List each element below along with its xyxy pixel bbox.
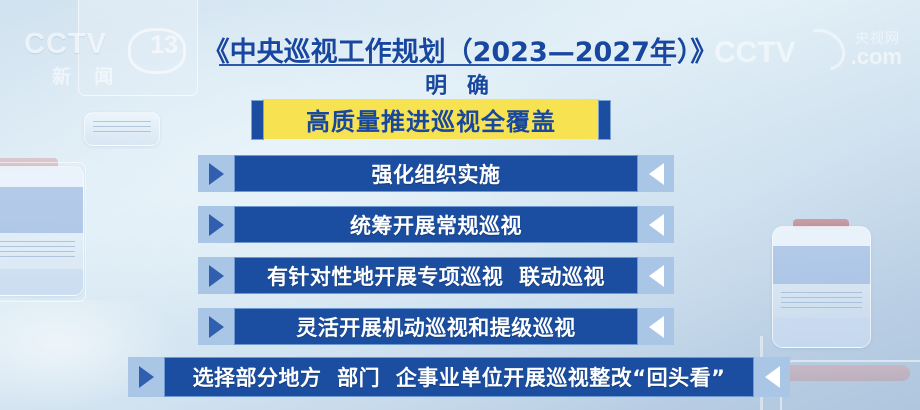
deco-lines [85,113,159,140]
item-bar: 统筹开展常规巡视 [234,206,638,243]
deco-document-top-center [84,112,160,146]
list-item: 有针对性地开展专项巡视 联动巡视 [198,257,674,294]
item-bar: 选择部分地方 部门 企事业单位开展巡视整改“回头看” [164,357,754,397]
deco-lines [773,284,870,318]
list-item: 灵活开展机动巡视和提级巡视 [198,308,674,345]
arrow-pad-right [754,357,790,397]
deco-document-right [772,226,871,348]
chevron-right-icon [209,214,224,236]
item-label: 灵活开展机动巡视和提级巡视 [296,312,576,342]
arrow-pad-right [638,308,674,345]
title-underline [219,64,671,66]
chevron-left-icon [649,214,664,236]
item-bar: 灵活开展机动巡视和提级巡视 [234,308,638,345]
arrow-pad-left [198,257,234,294]
deco-document-left [0,166,84,296]
item-bar: 有针对性地开展专项巡视 联动巡视 [234,257,638,294]
deco-rounded-frame-bottom-right [780,360,920,410]
banner-cap-right [598,100,611,140]
list-item: 统筹开展常规巡视 [198,206,674,243]
deco-red-tab-bottom-right [782,365,910,381]
chevron-left-icon [649,316,664,338]
chevron-left-icon [649,265,664,287]
list-item: 选择部分地方 部门 企事业单位开展巡视整改“回头看” [128,357,790,397]
chevron-right-icon [209,316,224,338]
page-subtitle: 明 确 [0,68,920,100]
deco-lines [0,233,83,269]
item-label: 强化组织实施 [372,159,501,189]
broadcast-graphic: CCTV 13 新 闻 CCTV 央视网 .com 《中央巡视工作规划（2023… [0,0,920,410]
deco-red-tab-left [0,158,58,170]
list-item: 强化组织实施 [198,155,674,192]
arrow-pad-right [638,155,674,192]
arrow-pad-left [128,357,164,397]
arrow-pad-right [638,206,674,243]
chevron-left-icon [649,163,664,185]
arrow-pad-right [638,257,674,294]
highlight-banner: 高质量推进巡视全覆盖 [262,99,600,139]
item-label: 统筹开展常规巡视 [350,210,522,240]
banner-label: 高质量推进巡视全覆盖 [306,102,556,137]
arrow-pad-left [198,206,234,243]
arrow-pad-left [198,308,234,345]
deco-card-outline-left-lower [0,162,86,302]
item-label: 选择部分地方 部门 企事业单位开展巡视整改“回头看” [193,362,726,392]
deco-red-tab-right [793,219,849,230]
banner-cap-left [251,100,264,140]
chevron-right-icon [209,265,224,287]
chevron-right-icon [139,366,154,388]
arrow-pad-left [198,155,234,192]
chevron-right-icon [209,163,224,185]
chevron-left-icon [765,366,780,388]
item-label: 有针对性地开展专项巡视 联动巡视 [267,261,605,291]
item-bar: 强化组织实施 [234,155,638,192]
